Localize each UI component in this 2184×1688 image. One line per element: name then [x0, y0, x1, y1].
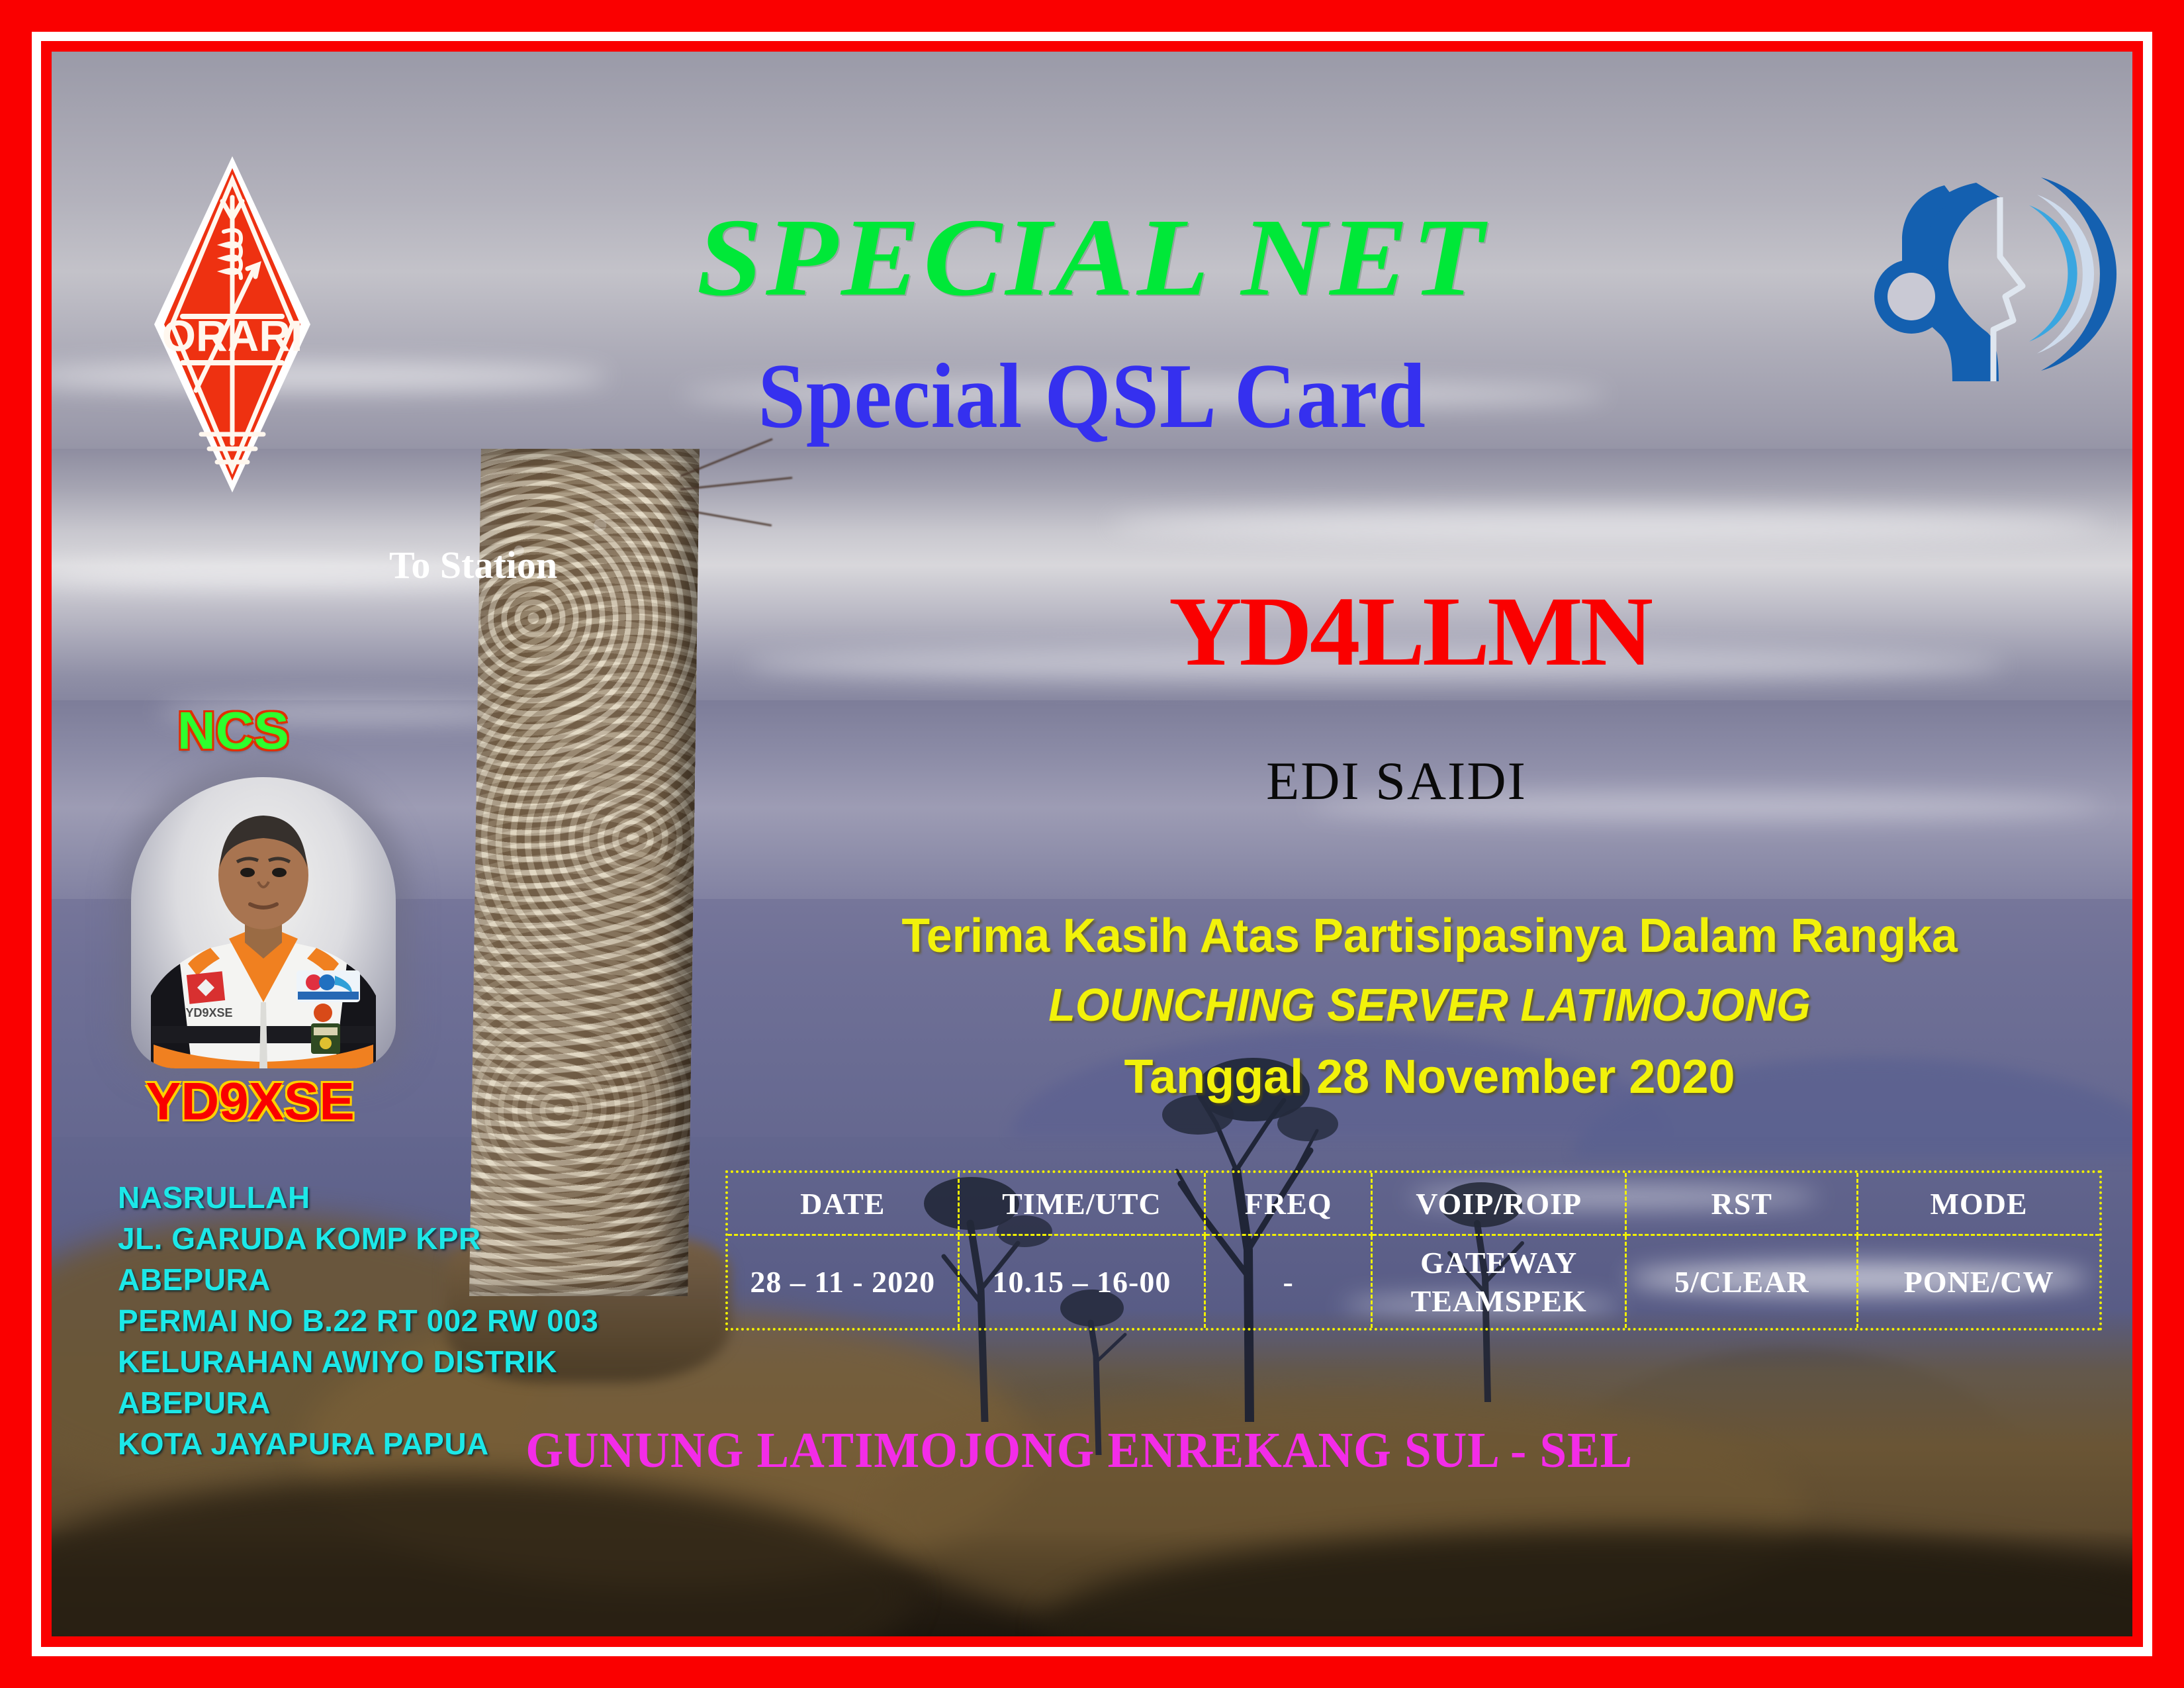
event-date-line: Tanggal 28 November 2020	[833, 1050, 2026, 1104]
address-line: ABEPURA	[118, 1382, 598, 1423]
address-line: KELURAHAN AWIYO DISTRIK	[118, 1341, 598, 1382]
table-header-freq: FREQ	[1205, 1173, 1372, 1235]
cell-voip-line2: TEAMSPEK	[1373, 1282, 1625, 1321]
cell-time-utc: 10.15 – 16-00	[958, 1235, 1205, 1329]
ncs-callsign: YD9XSE	[146, 1071, 355, 1132]
table-row: 28 – 11 - 2020 10.15 – 16-00 - GATEWAY T…	[728, 1235, 2099, 1329]
card-photo-area: ORARI	[52, 52, 2132, 1636]
uniform-callsign-patch: YD9XSE	[185, 1006, 232, 1019]
to-station-label: To Station	[389, 543, 557, 587]
cell-date: 28 – 11 - 2020	[728, 1235, 958, 1329]
thanks-line-2: LOUNCHING SERVER LATIMOJONG	[862, 978, 1997, 1031]
cell-freq: -	[1205, 1235, 1372, 1329]
table-header-mode: MODE	[1858, 1173, 2099, 1235]
cell-voip-line1: GATEWAY	[1373, 1244, 1625, 1282]
cell-voip-roip: GATEWAY TEAMSPEK	[1372, 1235, 1626, 1329]
table-header-date: DATE	[728, 1173, 958, 1235]
thanks-line-1: Terima Kasih Atas Partisipasinya Dalam R…	[850, 909, 2009, 963]
address-line: NASRULLAH	[118, 1177, 598, 1218]
qsl-card: ORARI	[0, 0, 2184, 1688]
cell-rst: 5/CLEAR	[1626, 1235, 1858, 1329]
sender-address-block: NASRULLAH JL. GARUDA KOMP KPR ABEPURA PE…	[118, 1177, 598, 1464]
table-header-time-utc: TIME/UTC	[958, 1173, 1205, 1235]
title-special-net: SPECIAL NET	[52, 194, 2132, 322]
table-header-rst: RST	[1626, 1173, 1858, 1235]
table-header-voip-roip: VOIP/ROIP	[1372, 1173, 1626, 1235]
cloud-streak	[1111, 508, 2103, 540]
table-header-row: DATE TIME/UTC FREQ VOIP/ROIP RST MODE	[728, 1173, 2099, 1235]
ncs-label: NCS	[177, 700, 289, 761]
ncs-operator-photo: YD9XSE	[131, 777, 396, 1068]
location-line: GUNUNG LATIMOJONG ENREKANG SUL - SEL	[81, 1422, 2078, 1479]
recipient-operator-name: EDI SAIDI	[833, 750, 1960, 812]
title-special-qsl-card: Special QSL Card	[135, 343, 2049, 449]
recipient-callsign: YD4LLMN	[821, 575, 1999, 688]
address-line: ABEPURA	[118, 1259, 598, 1300]
cell-mode: PONE/CW	[1858, 1235, 2099, 1329]
qso-details-table: DATE TIME/UTC FREQ VOIP/ROIP RST MODE 28…	[725, 1170, 2102, 1331]
address-line: PERMAI NO B.22 RT 002 RW 003	[118, 1300, 598, 1341]
address-line: JL. GARUDA KOMP KPR	[118, 1218, 598, 1259]
